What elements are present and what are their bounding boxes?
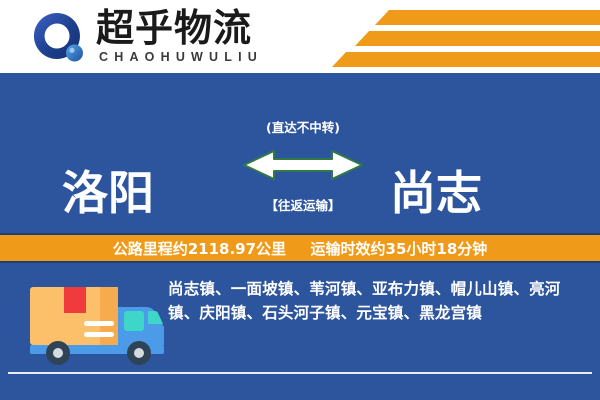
- destination-city: 尚志: [390, 170, 482, 216]
- origin-city: 洛阳: [62, 170, 154, 216]
- route-arrow-group: (直达不中转) 【往返运输】: [243, 117, 363, 227]
- orange-speed-stripes-icon: [300, 8, 600, 70]
- brand-name-cn: 超乎物流: [96, 8, 252, 48]
- stripe-1: [375, 10, 600, 25]
- delivery-truck-icon: [28, 281, 173, 366]
- chaohu-circle-logo-icon: [33, 12, 87, 66]
- direct-service-note: (直达不中转): [266, 117, 340, 136]
- distance-duration-bar: 公路里程约2118.97公里 运输时效约35小时18分钟: [0, 233, 600, 263]
- stripe-2: [355, 31, 600, 46]
- mileage-label: 公路里程约2118.97公里: [113, 240, 286, 258]
- stripe-3: [332, 52, 600, 67]
- banner-header: 超乎物流 CHAOHUWULIU: [0, 0, 600, 73]
- brand-name-en: CHAOHUWULIU: [99, 50, 263, 64]
- covered-towns-text: 尚志镇、一面坡镇、苇河镇、亚布力镇、帽儿山镇、亮河镇、庆阳镇、石头河子镇、元宝镇…: [168, 277, 588, 325]
- distance-duration-text: 公路里程约2118.97公里 运输时效约35小时18分钟: [113, 238, 488, 259]
- footer-divider: [8, 372, 592, 374]
- roundtrip-note: 【往返运输】: [265, 195, 340, 214]
- duration-label: 运输时效约35小时18分钟: [311, 240, 488, 258]
- route-section: 洛阳 (直达不中转) 【往返运输】 尚志: [0, 73, 600, 233]
- logistics-route-banner: 超乎物流 CHAOHUWULIU 洛阳 (直达不中转) 【往返运输】 尚志 公路…: [0, 0, 600, 400]
- bidirectional-arrow-icon: [243, 143, 363, 187]
- coverage-section: 尚志镇、一面坡镇、苇河镇、亚布力镇、帽儿山镇、亮河镇、庆阳镇、石头河子镇、元宝镇…: [0, 263, 600, 400]
